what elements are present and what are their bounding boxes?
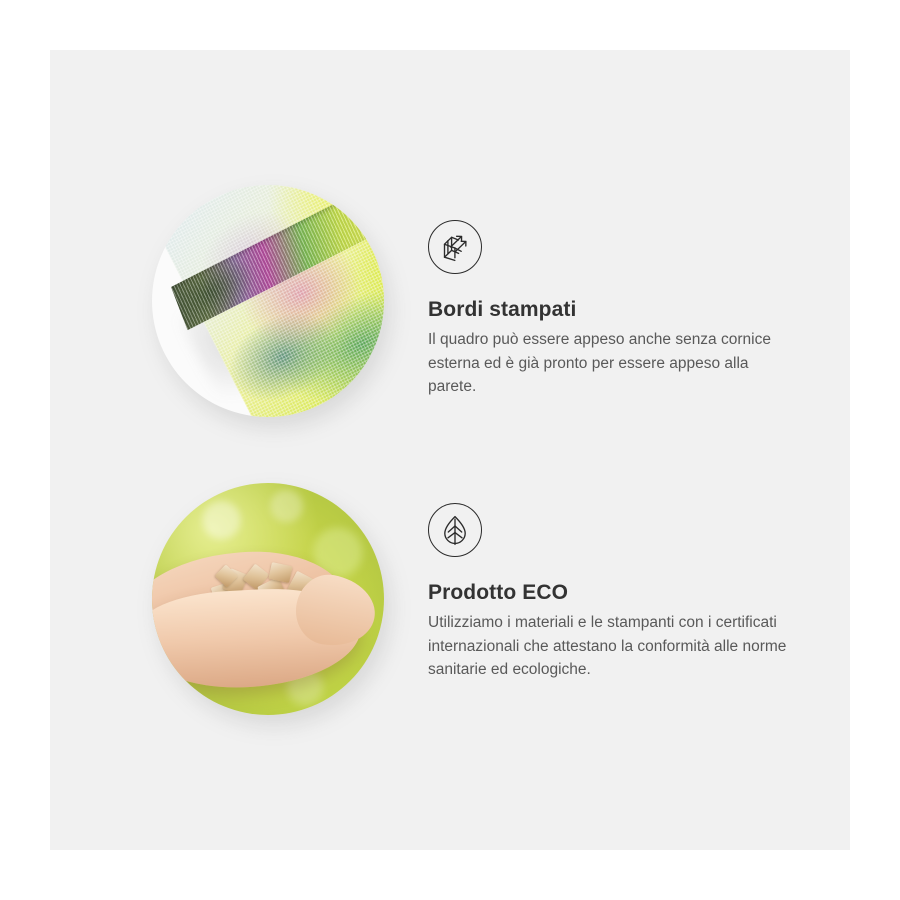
- feature-title: Bordi stampati: [428, 298, 808, 322]
- feature-copy-printed-edges: Bordi stampati Il quadro può essere appe…: [428, 220, 808, 399]
- feature-description: Utilizziamo i materiali e le stampanti c…: [428, 611, 796, 682]
- feature-description: Il quadro può essere appeso anche senza …: [428, 328, 796, 399]
- canvas-print-edge-photo-circle: [152, 185, 384, 417]
- content-panel: Bordi stampati Il quadro può essere appe…: [50, 50, 850, 850]
- product-feature-page: Bordi stampati Il quadro può essere appe…: [0, 0, 900, 900]
- wood-chips-in-hands-photo: [152, 483, 384, 715]
- printed-edges-icon: [428, 220, 482, 274]
- feature-block-printed-edges: Bordi stampati Il quadro può essere appe…: [50, 170, 850, 470]
- canvas-print-edge-photo: [152, 185, 384, 417]
- wood-chips-photo-circle: [152, 483, 384, 715]
- leaf-icon: [428, 503, 482, 557]
- feature-title: Prodotto ECO: [428, 581, 808, 605]
- feature-block-eco-product: Prodotto ECO Utilizziamo i materiali e l…: [50, 455, 850, 755]
- feature-copy-eco-product: Prodotto ECO Utilizziamo i materiali e l…: [428, 503, 808, 682]
